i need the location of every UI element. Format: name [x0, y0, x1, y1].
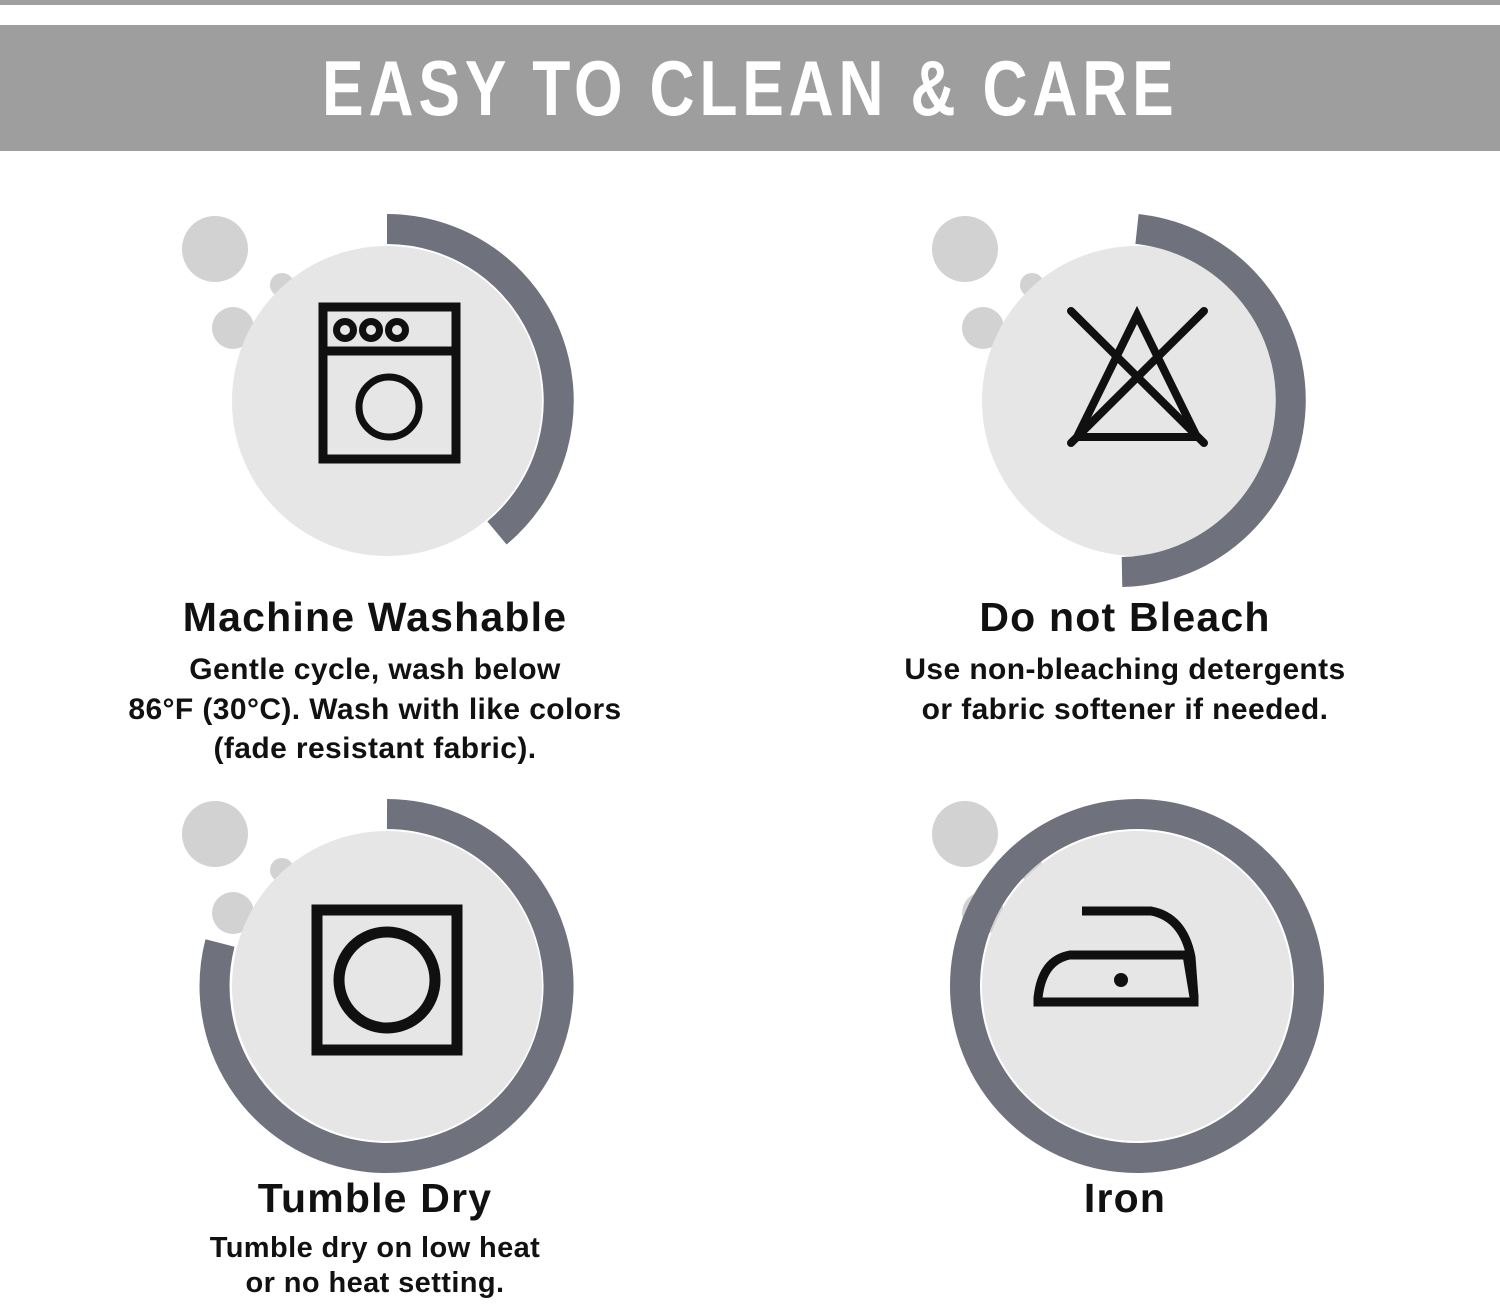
bubble-large-icon — [932, 216, 998, 282]
icon-badge — [925, 199, 1325, 589]
card-text: Tumble Dry Tumble dry on low heat or no … — [0, 1176, 750, 1302]
card-title: Do not Bleach — [774, 595, 1476, 640]
icon-badge — [925, 784, 1325, 1174]
page-title: EASY TO CLEAN & CARE — [322, 49, 1178, 127]
card-title: Machine Washable — [24, 595, 726, 640]
care-card-machine-washable: Machine Washable Gentle cycle, wash belo… — [0, 199, 750, 769]
top-rule-divider — [0, 0, 1500, 5]
card-text: Do not Bleach Use non-bleaching detergen… — [750, 595, 1500, 729]
bubble-large-icon — [182, 801, 248, 867]
bubble-large-icon — [182, 216, 248, 282]
card-description: Gentle cycle, wash below 86°F (30°C). Wa… — [24, 650, 726, 769]
icon-circle-backdrop — [232, 246, 542, 556]
icon-circle-backdrop — [982, 831, 1292, 1141]
bubble-large-icon — [932, 801, 998, 867]
card-title: Tumble Dry — [24, 1176, 726, 1221]
icon-badge — [175, 199, 575, 589]
card-text: Iron — [750, 1176, 1500, 1221]
iron-heat-dot-icon — [1114, 973, 1128, 987]
do-not-bleach-icon — [925, 199, 1325, 589]
card-title: Iron — [774, 1176, 1476, 1221]
card-description: Use non-bleaching detergents or fabric s… — [774, 650, 1476, 729]
washing-machine-icon — [175, 199, 575, 589]
card-description: Tumble dry on low heat or no heat settin… — [24, 1231, 726, 1302]
header-banner: EASY TO CLEAN & CARE — [0, 25, 1500, 151]
care-instructions-page: EASY TO CLEAN & CARE — [0, 0, 1500, 1311]
icon-circle-backdrop — [232, 831, 542, 1141]
iron-icon — [925, 784, 1325, 1174]
card-text: Machine Washable Gentle cycle, wash belo… — [0, 595, 750, 769]
icon-badge — [175, 784, 575, 1174]
care-card-do-not-bleach: Do not Bleach Use non-bleaching detergen… — [750, 199, 1500, 729]
care-cards-grid: Machine Washable Gentle cycle, wash belo… — [0, 151, 1500, 1311]
care-card-tumble-dry: Tumble Dry Tumble dry on low heat or no … — [0, 784, 750, 1302]
care-card-iron: Iron — [750, 784, 1500, 1231]
tumble-dry-icon — [175, 784, 575, 1174]
